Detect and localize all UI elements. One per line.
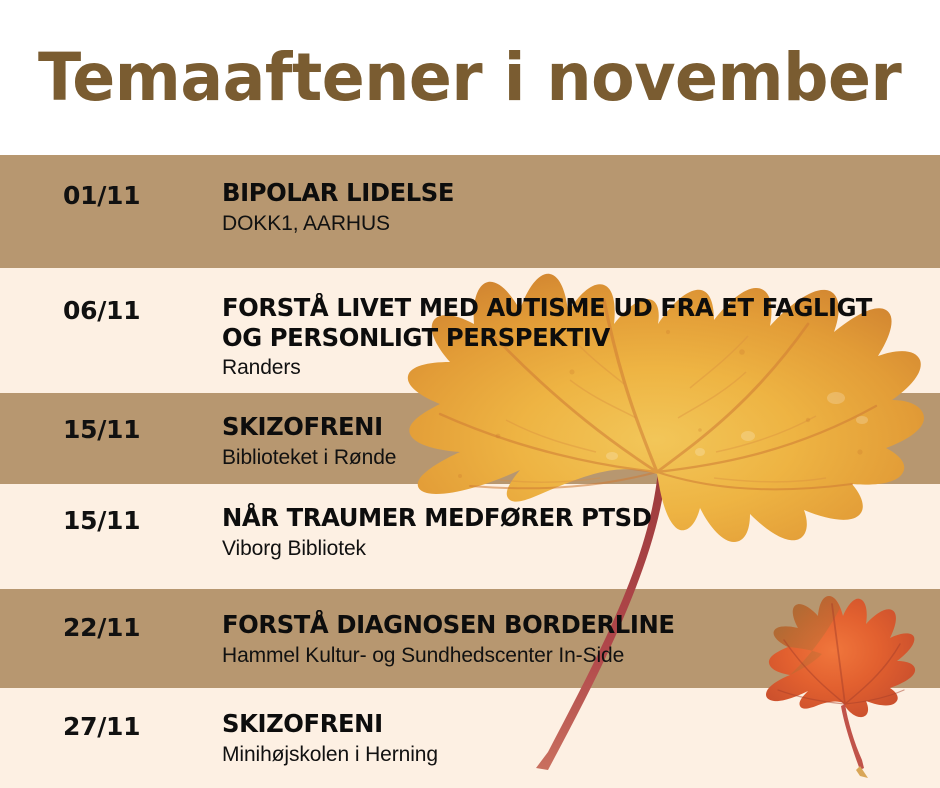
entry-title: SKIZOFRENI <box>222 709 901 739</box>
entry-venue: Randers <box>222 355 922 381</box>
schedule-entry[interactable]: 06/11FORSTÅ LIVET MED AUTISME UD FRA ET … <box>0 268 940 393</box>
entry-body: FORSTÅ LIVET MED AUTISME UD FRA ET FAGLI… <box>222 293 922 381</box>
entry-venue: DOKK1, AARHUS <box>222 211 922 237</box>
entry-date: 27/11 <box>63 712 140 741</box>
entry-date: 06/11 <box>63 296 140 325</box>
entry-title: BIPOLAR LIDELSE <box>222 178 901 208</box>
schedule-list: 01/11BIPOLAR LIDELSEDOKK1, AARHUS06/11FO… <box>0 155 940 788</box>
entry-venue: Minihøjskolen i Herning <box>222 742 922 768</box>
title-bar: Temaaftener i november <box>0 0 940 155</box>
schedule-entry[interactable]: 15/11NÅR TRAUMER MEDFØRER PTSDViborg Bib… <box>0 484 940 589</box>
schedule-entry[interactable]: 22/11FORSTÅ DIAGNOSEN BORDERLINEHammel K… <box>0 589 940 688</box>
entry-date: 15/11 <box>63 506 140 535</box>
entry-body: SKIZOFRENIMinihøjskolen i Herning <box>222 709 922 768</box>
entry-title: FORSTÅ DIAGNOSEN BORDERLINE <box>222 610 901 640</box>
entry-date: 01/11 <box>63 181 140 210</box>
entry-body: FORSTÅ DIAGNOSEN BORDERLINEHammel Kultur… <box>222 610 922 669</box>
entry-title: NÅR TRAUMER MEDFØRER PTSD <box>222 503 901 533</box>
entry-date: 15/11 <box>63 415 140 444</box>
page-title: Temaaftener i november <box>38 39 901 116</box>
entry-title: FORSTÅ LIVET MED AUTISME UD FRA ET FAGLI… <box>222 293 901 352</box>
schedule-entry[interactable]: 01/11BIPOLAR LIDELSEDOKK1, AARHUS <box>0 155 940 268</box>
entry-body: SKIZOFRENIBiblioteket i Rønde <box>222 412 922 471</box>
entry-title: SKIZOFRENI <box>222 412 901 442</box>
schedule-entry[interactable]: 27/11SKIZOFRENIMinihøjskolen i Herning <box>0 688 940 788</box>
poster-canvas: Temaaftener i november <box>0 0 940 788</box>
entry-date: 22/11 <box>63 613 140 642</box>
entry-body: BIPOLAR LIDELSEDOKK1, AARHUS <box>222 178 922 237</box>
entry-venue: Biblioteket i Rønde <box>222 445 922 471</box>
schedule-entry[interactable]: 15/11SKIZOFRENIBiblioteket i Rønde <box>0 393 940 484</box>
entry-body: NÅR TRAUMER MEDFØRER PTSDViborg Bibliote… <box>222 503 922 562</box>
entry-venue: Viborg Bibliotek <box>222 536 922 562</box>
entry-venue: Hammel Kultur- og Sundhedscenter In-Side <box>222 643 922 669</box>
